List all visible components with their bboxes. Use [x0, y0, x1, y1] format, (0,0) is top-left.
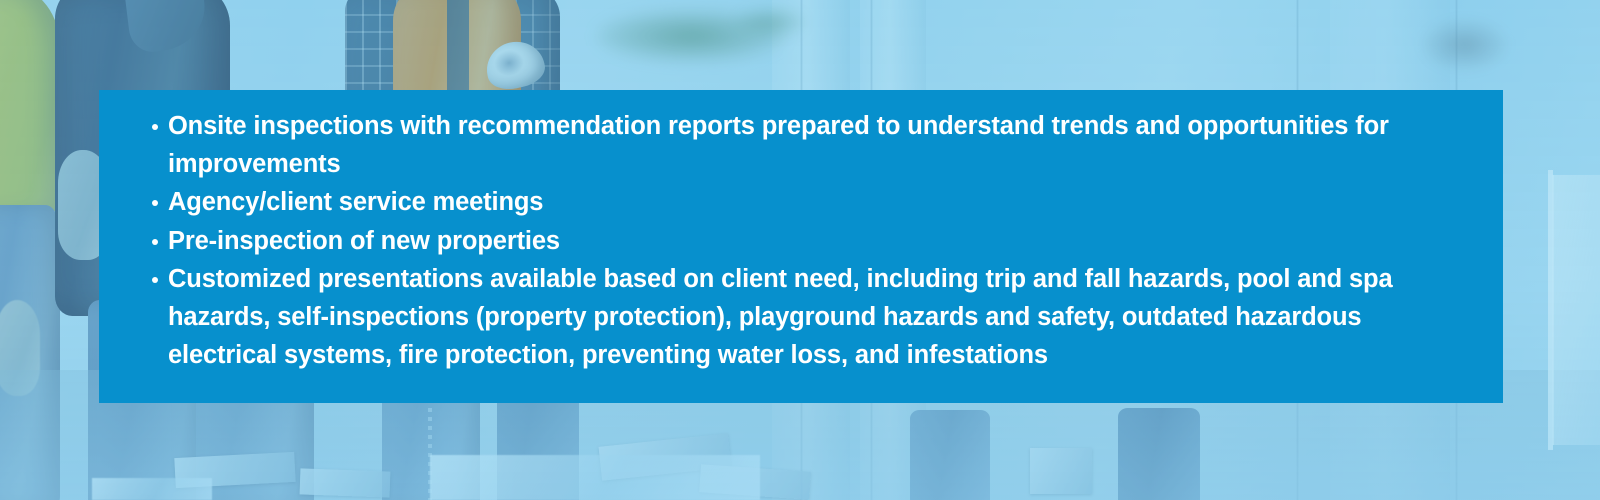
content-overlay-panel: Onsite inspections with recommendation r…	[99, 90, 1503, 403]
slide-canvas: Onsite inspections with recommendation r…	[0, 0, 1600, 500]
services-bullet-list: Onsite inspections with recommendation r…	[152, 107, 1463, 374]
list-item: Agency/client service meetings	[152, 183, 1463, 221]
list-item: Onsite inspections with recommendation r…	[152, 107, 1463, 183]
list-item: Pre-inspection of new properties	[152, 222, 1463, 260]
list-item: Customized presentations available based…	[152, 260, 1463, 375]
